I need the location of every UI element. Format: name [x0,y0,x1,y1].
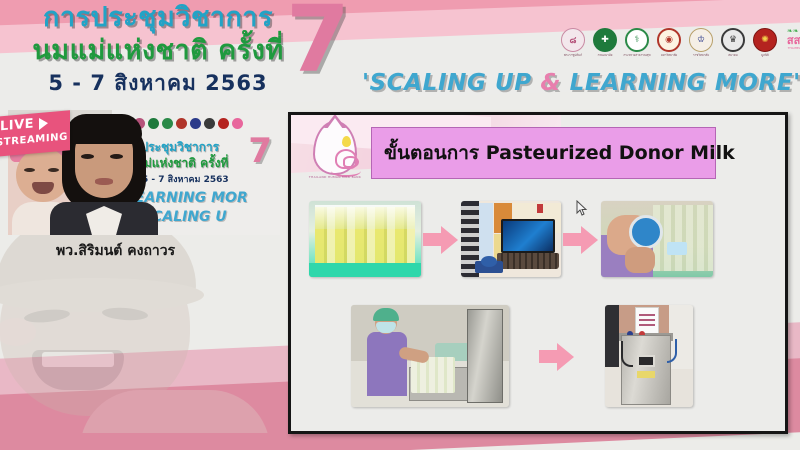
arrow-3-icon [537,341,577,371]
live-label-row: LIVE [0,115,48,134]
red-seal-caption: มูลนิธิ [761,53,769,58]
conference-title-line1: การประชุมวิชาการ [18,4,298,31]
milk-droplet-icon [342,136,351,147]
university-crest-caption: มหาวิทยาลัย [661,53,677,58]
milk-bank-logo-caption: THAILAND HUMAN MILK BANK [303,175,367,179]
thaihealth-sss-caption: THAIHEALTH [788,46,800,50]
tagline-before: 'SCALING UP [362,70,540,96]
live-streaming-badge: LIVE STREAMING [0,110,70,158]
arrow-1-icon [421,224,461,254]
royal-emblem-logo: ๘ พระราชูปถัมภ์ [560,28,586,62]
ministry-green-icon: ✚ [593,28,617,52]
black-seal-caption: สมาคม [728,53,737,58]
milk-drop-icon [313,121,357,175]
sponsor-logo-strip: ๘ พระราชูปถัมภ์ ✚ กรมอนามัย ⚕ กระทรวงสาธ… [560,28,800,62]
university-crest-icon: ◉ [657,28,681,52]
slide-title: ขั้นตอนการ Pasteurized Donor Milk [384,138,735,168]
arrow-2-icon [561,224,601,254]
royal-emblem-caption: พระราชูปถัมภ์ [564,53,582,58]
mouse-cursor [576,200,588,217]
ministry-green-logo: ✚ กรมอนามัย [592,28,618,62]
black-seal-icon: ♛ [721,28,745,52]
thaihealth-sss-logo: ❧❧ สสส THAIHEALTH [784,28,800,62]
conference-edition-number: 7 [286,0,350,86]
royal-crown-caption: ราชวิทยาลัย [693,53,709,58]
ministry-green-caption: กรมอนามัย [598,53,613,58]
conference-date: 5 - 7 สิงหาคม 2563 [18,73,298,94]
presentation-slide: THAILAND HUMAN MILK BANK ขั้นตอนการ Past… [288,112,788,434]
process-row-1 [309,197,773,281]
black-seal-logo: ♛ สมาคม [720,28,746,62]
photo-laptop-workstation [461,201,561,277]
red-seal-logo: ✺ มูลนิธิ [752,28,778,62]
tagline-after: LEARNING MORE' [561,70,800,96]
play-icon [39,117,48,130]
royal-crown-icon: ♔ [689,28,713,52]
photo-milk-bottles-rack [309,201,421,277]
photo-hand-timer-thermometer [601,201,713,277]
conference-title-line2: นมแม่แห่งชาติ ครั้งที่ [18,37,298,64]
royal-emblem-icon: ๘ [561,28,585,52]
university-crest-logo: ◉ มหาวิทยาลัย [656,28,682,62]
slide-presentation-screen: การประชุมวิชาการ นมแม่แห่งชาติ ครั้งที่ … [0,0,800,450]
streaming-label: STREAMING [0,131,68,148]
human-milk-bank-logo: THAILAND HUMAN MILK BANK [303,121,367,189]
red-seal-icon: ✺ [753,28,777,52]
conference-tagline: 'SCALING UP & LEARNING MORE' [362,70,794,96]
thaihealth-sss-icon: ❧❧ สสส [787,28,800,46]
photo-nurse-loading-pasteurizer [351,305,509,407]
royal-crown-logo: ♔ ราชวิทยาลัย [688,28,714,62]
video-inset-edition-number: 7 [248,134,272,168]
speaker-name-caption: พว.สิริมนต์ คงถาวร [56,240,175,262]
slide-title-banner: ขั้นตอนการ Pasteurized Donor Milk [371,127,716,179]
conference-title-block: การประชุมวิชาการ นมแม่แห่งชาติ ครั้งที่ … [18,4,298,94]
live-label: LIVE [0,116,34,134]
process-row-2 [351,300,751,412]
health-department-icon: ⚕ [625,28,649,52]
health-department-logo: ⚕ กระทรวงสาธารณสุข [624,28,650,62]
health-department-caption: กระทรวงสาธารณสุข [623,53,650,58]
tagline-ampersand: & [540,70,561,96]
photo-freezer-storage-unit [605,305,693,407]
